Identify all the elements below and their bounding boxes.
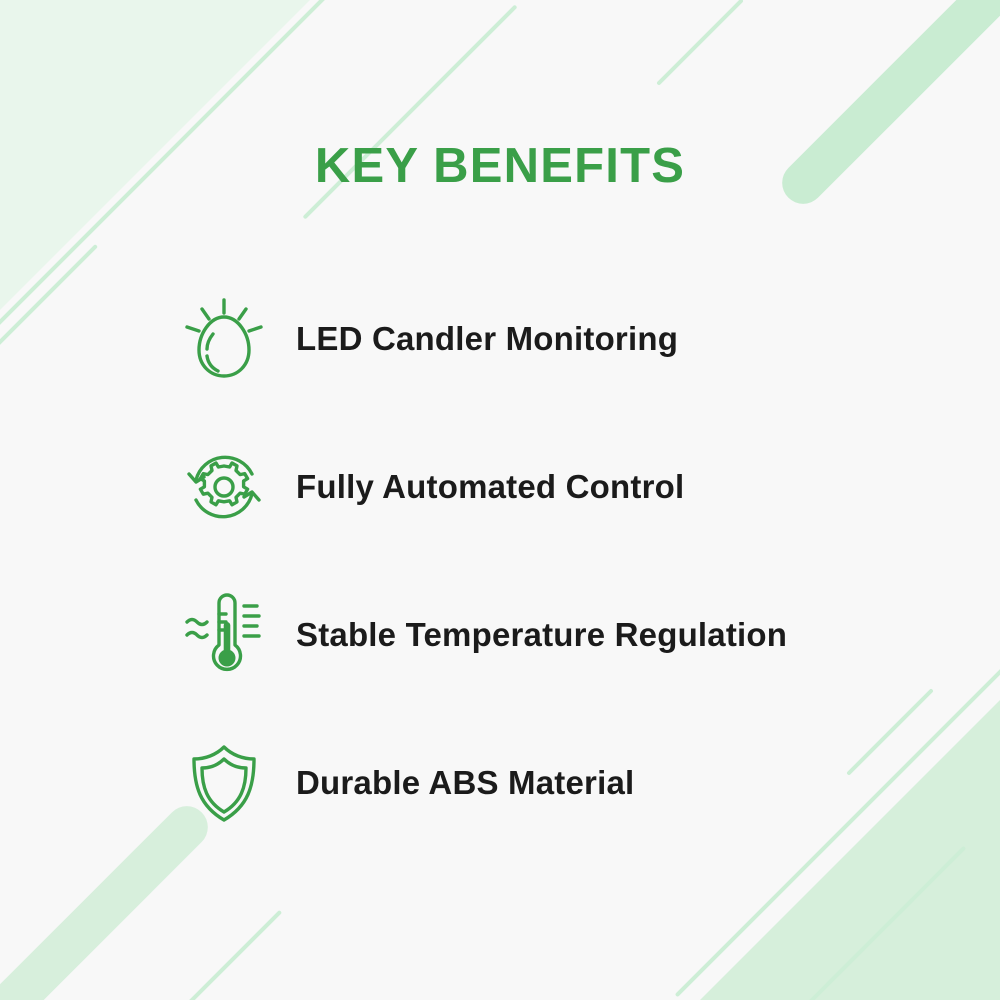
page-title: KEY BENEFITS xyxy=(0,138,1000,194)
benefits-list: LED Candler Monitoring xyxy=(0,284,1000,876)
benefit-label: Stable Temperature Regulation xyxy=(296,617,787,653)
benefit-item-led-candler-monitoring: LED Candler Monitoring xyxy=(0,284,1000,394)
egg-candler-icon xyxy=(176,291,272,387)
shield-icon xyxy=(176,735,272,831)
gear-cycle-icon xyxy=(176,439,272,535)
benefit-label: LED Candler Monitoring xyxy=(296,321,678,357)
benefit-item-stable-temperature-regulation: Stable Temperature Regulation xyxy=(0,580,1000,690)
benefit-label: Durable ABS Material xyxy=(296,765,634,801)
content-area: KEY BENEFITS xyxy=(0,0,1000,1000)
thermometer-icon xyxy=(176,587,272,683)
benefit-item-durable-abs-material: Durable ABS Material xyxy=(0,728,1000,838)
benefit-item-fully-automated-control: Fully Automated Control xyxy=(0,432,1000,542)
key-benefits-page: KEY BENEFITS xyxy=(0,0,1000,1000)
benefit-label: Fully Automated Control xyxy=(296,469,684,505)
